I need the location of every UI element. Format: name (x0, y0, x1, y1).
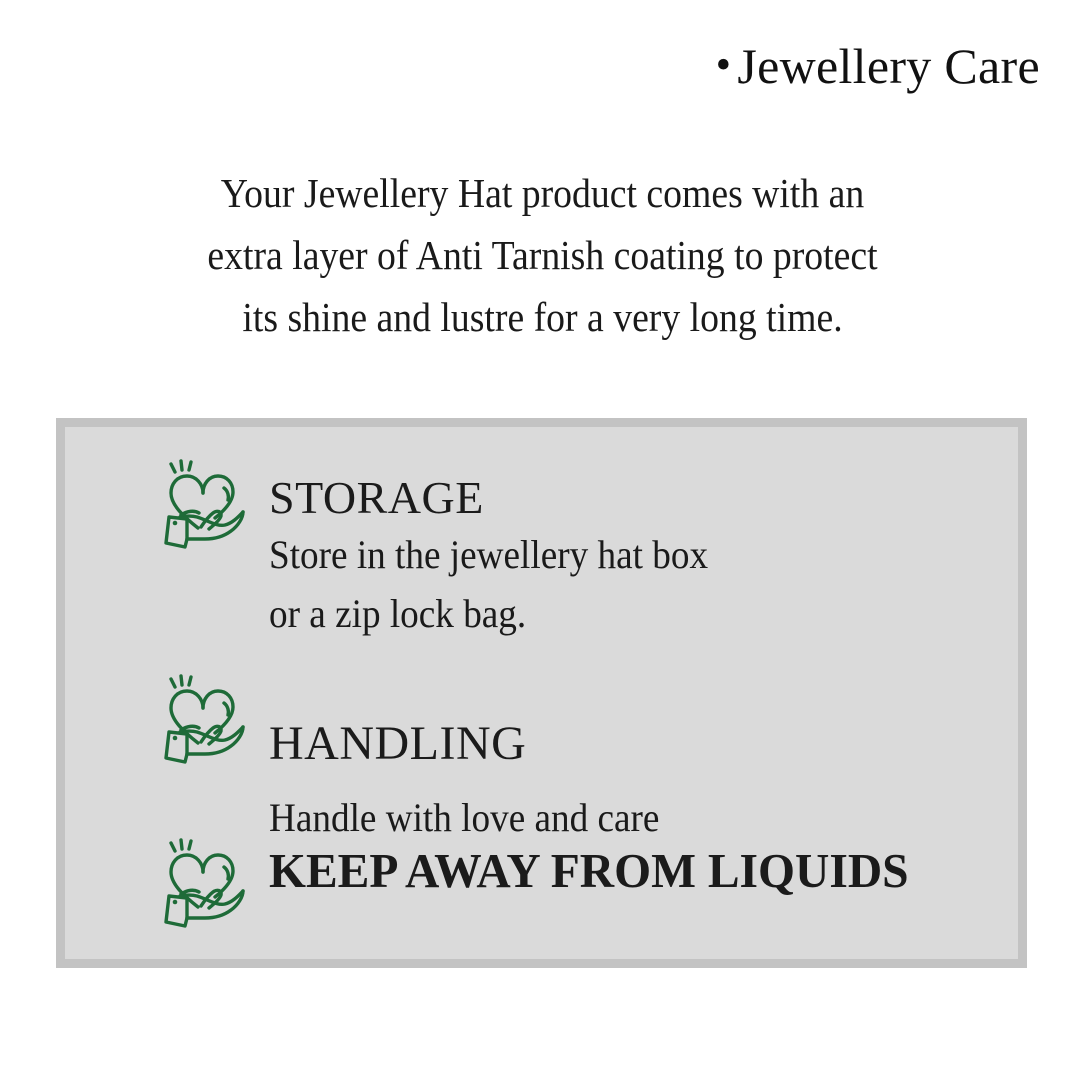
care-item-heading: HANDLING (269, 718, 689, 770)
heart-in-hand-icon (151, 670, 255, 774)
page-title: •Jewellery Care (340, 34, 1040, 98)
intro-line-3: its shine and lustre for a very long tim… (89, 286, 995, 348)
bullet-icon: • (716, 43, 732, 87)
heart-in-hand-icon (151, 834, 255, 938)
care-item-heading: KEEP AWAY FROM LIQUIDS (269, 844, 909, 898)
care-item-text: KEEP AWAY FROM LIQUIDS (269, 834, 928, 898)
care-item-keep-away-from-liquids: KEEP AWAY FROM LIQUIDS (151, 834, 928, 938)
care-item-storage: STORAGE Store in the jewellery hat box o… (151, 455, 741, 643)
care-item-heading: STORAGE (269, 473, 741, 523)
intro-line-2: extra layer of Anti Tarnish coating to p… (89, 224, 995, 286)
care-item-body: Store in the jewellery hat box or a zip … (269, 525, 708, 643)
care-item-body-line: or a zip lock bag. (269, 584, 708, 643)
care-item-body-line: Store in the jewellery hat box (269, 525, 708, 584)
care-instructions-list: STORAGE Store in the jewellery hat box o… (65, 427, 1018, 959)
intro-paragraph: Your Jewellery Hat product comes with an… (89, 162, 995, 348)
care-item-handling: HANDLING Handle with love and care (151, 670, 689, 847)
page-title-text: Jewellery Care (737, 38, 1040, 94)
care-instructions-card: STORAGE Store in the jewellery hat box o… (56, 418, 1027, 968)
care-item-text: HANDLING Handle with love and care (269, 670, 689, 847)
intro-line-1: Your Jewellery Hat product comes with an (89, 162, 995, 224)
care-item-text: STORAGE Store in the jewellery hat box o… (269, 455, 741, 643)
heart-in-hand-icon (151, 455, 255, 559)
